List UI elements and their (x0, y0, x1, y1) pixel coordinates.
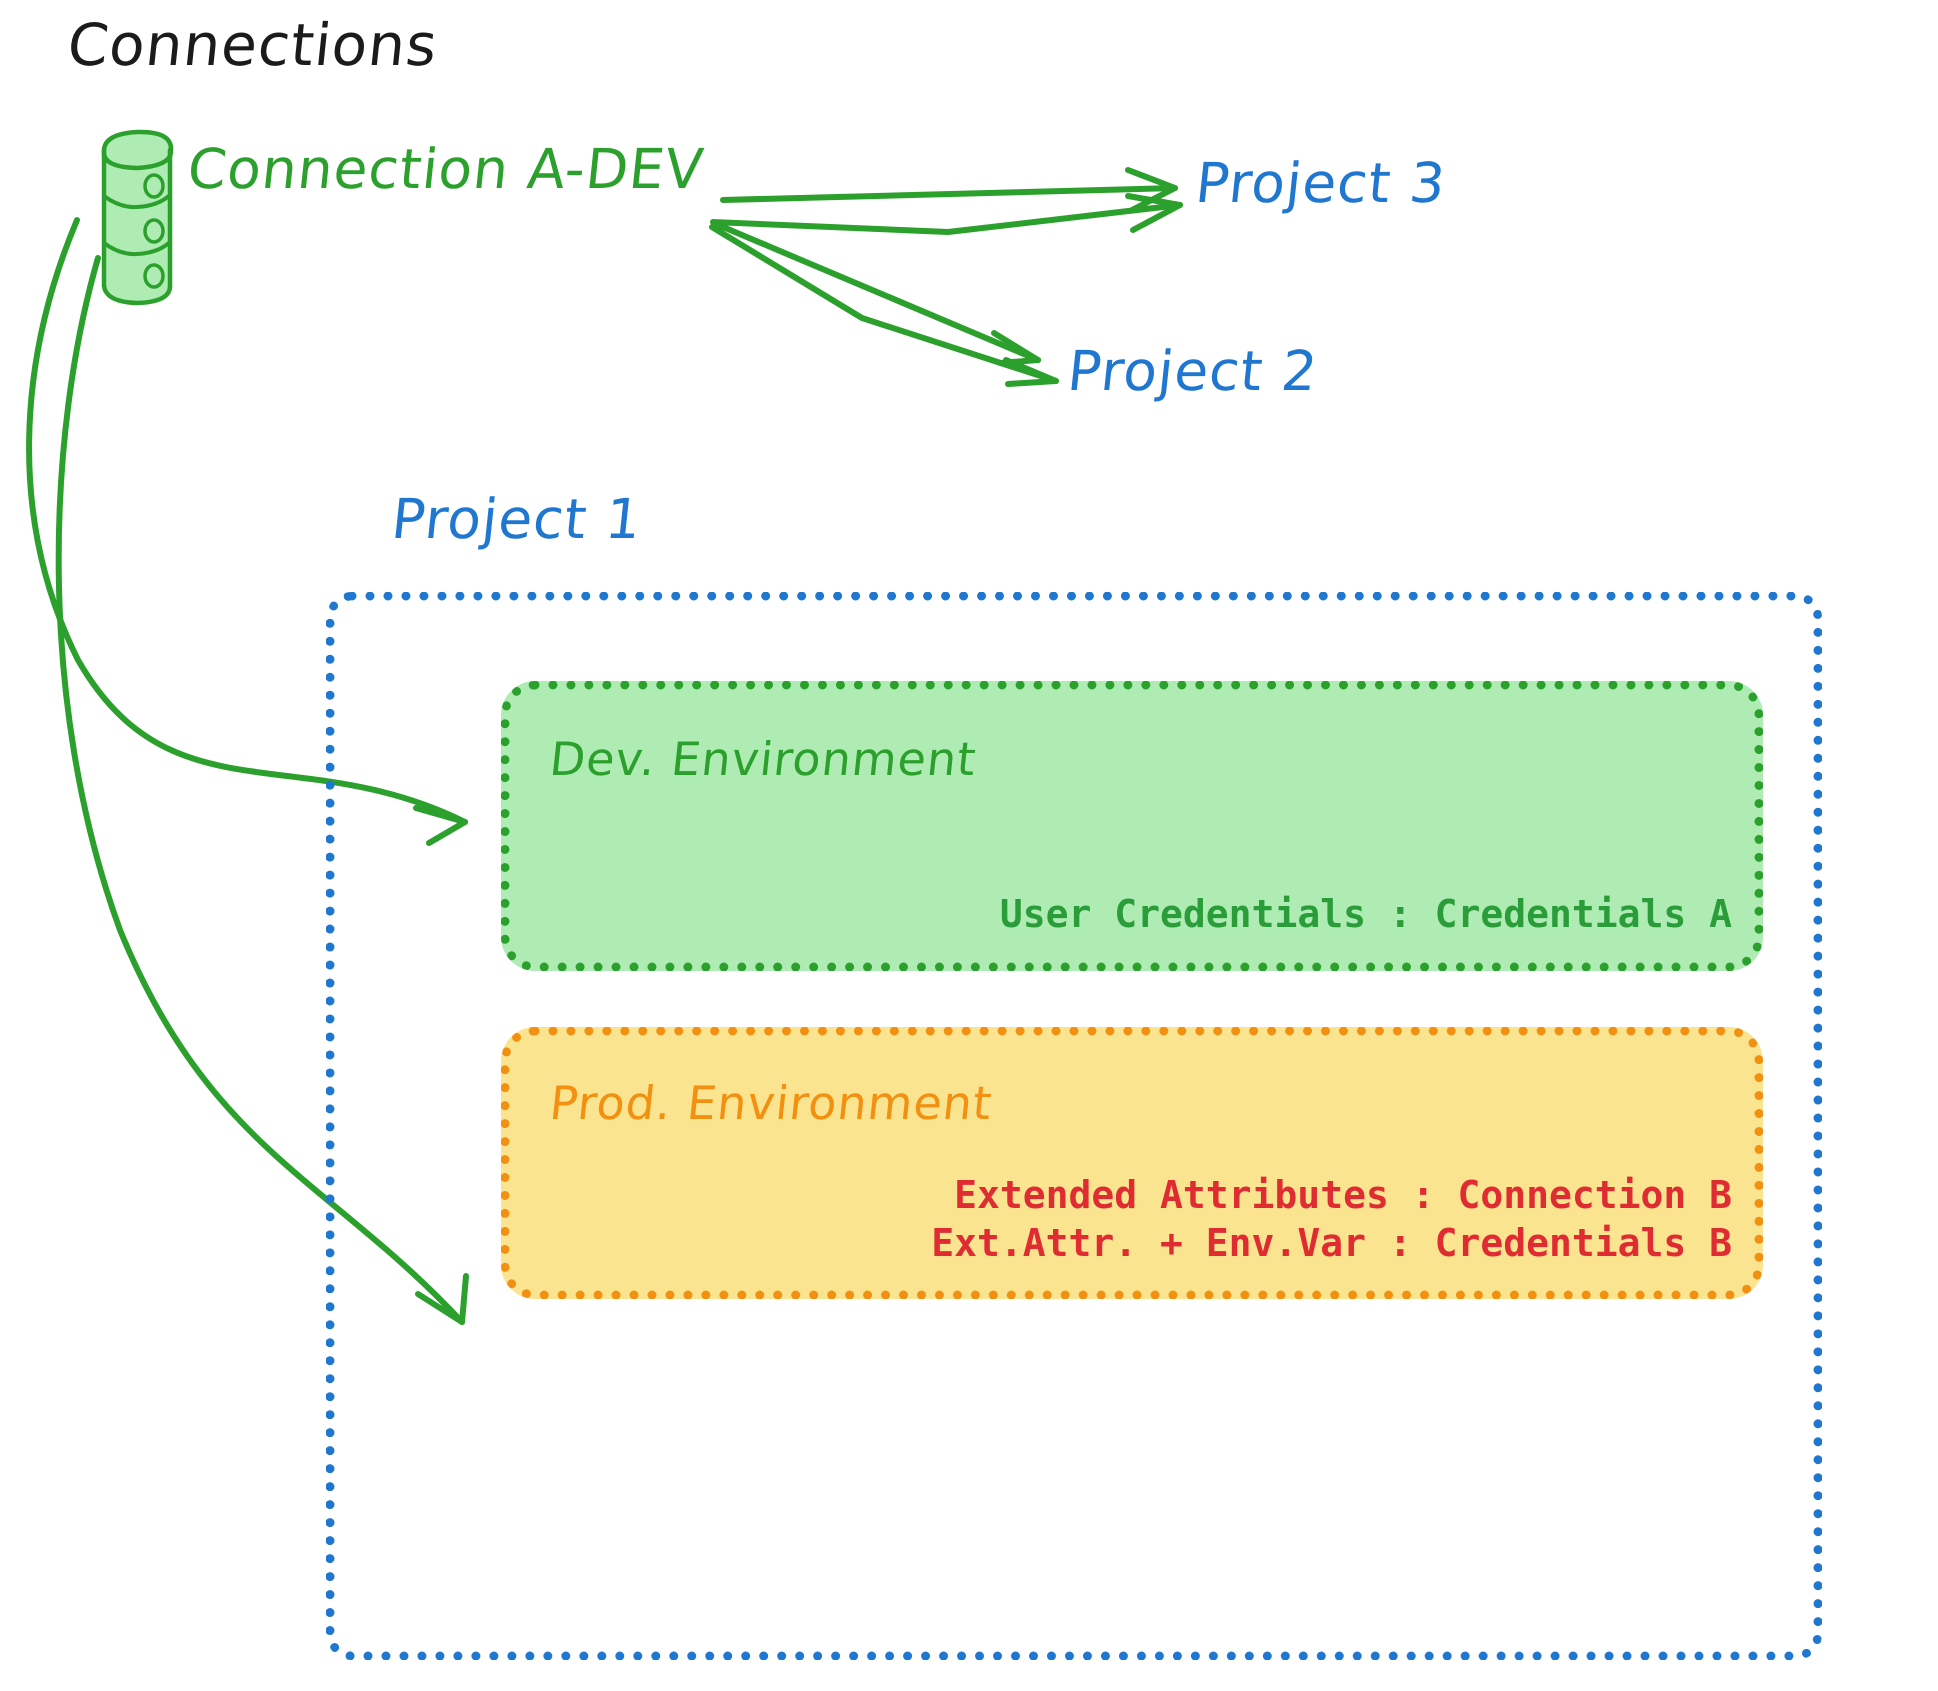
prod-ext-attr-env-var: Ext.Attr. + Env.Var : Credentials B (931, 1219, 1732, 1268)
diagram-canvas: Connections Connection A-DEV Project 3 P… (0, 0, 1938, 1691)
project-2-label[interactable]: Project 2 (1065, 344, 1320, 399)
dev-environment-box[interactable]: Dev. Environment User Credentials : Cred… (501, 681, 1763, 971)
project-3-label[interactable]: Project 3 (1193, 156, 1448, 211)
connection-label[interactable]: Connection A-DEV (185, 142, 706, 197)
project-1-container: Dev. Environment User Credentials : Cred… (326, 592, 1822, 1660)
prod-environment-attributes: Extended Attributes : Connection B Ext.A… (931, 1171, 1732, 1268)
prod-environment-title: Prod. Environment (547, 1076, 995, 1130)
prod-extended-attributes: Extended Attributes : Connection B (931, 1171, 1732, 1220)
edge-connection-to-project2 (712, 224, 1056, 384)
page-title: Connections (65, 16, 441, 74)
edge-connection-to-project3 (713, 170, 1180, 232)
dev-environment-user-credentials: User Credentials : Credentials A (1000, 892, 1732, 936)
database-cylinder-icon[interactable] (104, 132, 171, 303)
dev-environment-title: Dev. Environment (547, 732, 979, 786)
project-1-label[interactable]: Project 1 (389, 492, 644, 547)
prod-environment-box[interactable]: Prod. Environment Extended Attributes : … (501, 1027, 1763, 1299)
